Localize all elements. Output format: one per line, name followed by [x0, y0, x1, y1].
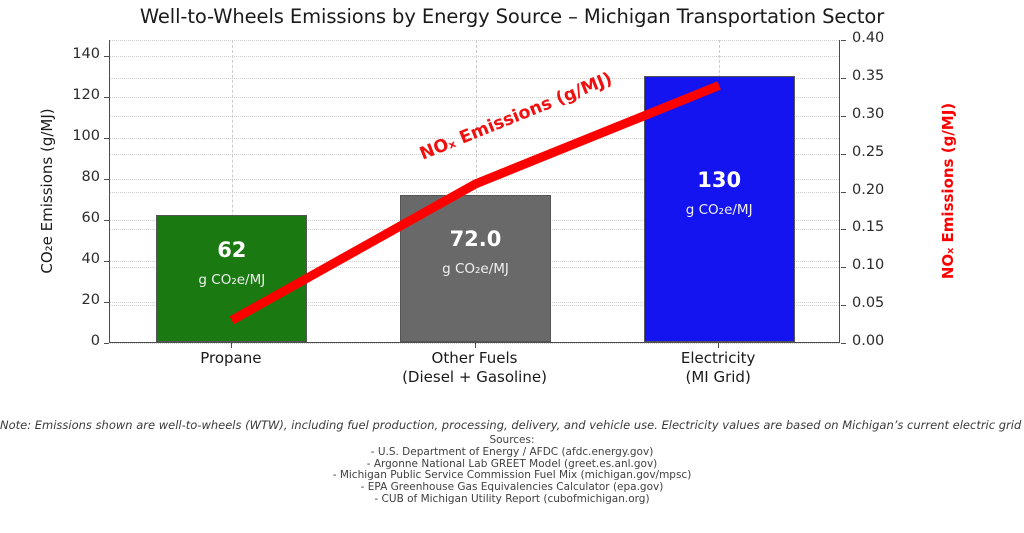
- chart-canvas: Well-to-Wheels Emissions by Energy Sourc…: [0, 0, 1024, 533]
- x-tick-label: Propane: [91, 349, 371, 368]
- y-tick-label-right: 0.35: [852, 68, 884, 84]
- y-tick-mark-right: [841, 305, 846, 306]
- y-tick-mark-left: [104, 343, 109, 344]
- y-tick-mark-right: [841, 154, 846, 155]
- y-tick-label-right: 0.30: [852, 106, 884, 122]
- footnote-sources: Sources:- U.S. Department of Energy / AF…: [0, 435, 1024, 506]
- x-tick-label-line: Other Fuels: [335, 349, 615, 368]
- y-axis-left-label: CO₂e Emissions (g/MJ): [38, 106, 56, 276]
- y-tick-mark-right: [841, 343, 846, 344]
- nox-line: [232, 85, 719, 320]
- y-tick-label-left: 0: [40, 333, 100, 349]
- y-tick-label-right: 0.00: [852, 333, 884, 349]
- x-tick-mark: [718, 343, 719, 348]
- y-tick-mark-right: [841, 267, 846, 268]
- y-tick-mark-left: [104, 179, 109, 180]
- y-tick-mark-left: [104, 220, 109, 221]
- y-axis-right-label: NOₓ Emissions (g/MJ): [939, 96, 957, 286]
- y-tick-label-right: 0.05: [852, 295, 884, 311]
- x-tick-mark: [231, 343, 232, 348]
- y-tick-mark-left: [104, 138, 109, 139]
- nox-line-svg: [110, 40, 841, 343]
- y-tick-label-left: 120: [40, 87, 100, 103]
- y-tick-mark-right: [841, 192, 846, 193]
- source-item: - U.S. Department of Energy / AFDC (afdc…: [0, 447, 1024, 459]
- y-tick-label-right: 0.15: [852, 219, 884, 235]
- x-tick-label-line: (Diesel + Gasoline): [335, 368, 615, 387]
- x-tick-label-line: Propane: [91, 349, 371, 368]
- x-tick-mark: [475, 343, 476, 348]
- source-item: - CUB of Michigan Utility Report (cubofm…: [0, 494, 1024, 506]
- footnote-note: Note: Emissions shown are well-to-wheels…: [0, 418, 1024, 432]
- nox-line-layer: [110, 40, 839, 342]
- y-tick-mark-right: [841, 40, 846, 41]
- y-tick-mark-left: [104, 302, 109, 303]
- x-tick-label-line: Electricity: [578, 349, 858, 368]
- x-tick-label: Electricity(MI Grid): [578, 349, 858, 387]
- y-tick-mark-left: [104, 261, 109, 262]
- y-tick-mark-right: [841, 116, 846, 117]
- chart-title: Well-to-Wheels Emissions by Energy Sourc…: [0, 5, 1024, 28]
- y-tick-label-left: 20: [40, 292, 100, 308]
- plot-area: 62g CO₂e/MJ72.0g CO₂e/MJ130g CO₂e/MJ: [109, 40, 840, 343]
- y-tick-mark-right: [841, 78, 846, 79]
- y-tick-label-right: 0.25: [852, 144, 884, 160]
- y-tick-label-left: 140: [40, 46, 100, 62]
- y-tick-mark-right: [841, 229, 846, 230]
- y-tick-label-right: 0.10: [852, 257, 884, 273]
- y-tick-label-right: 0.40: [852, 30, 884, 46]
- y-tick-mark-left: [104, 56, 109, 57]
- y-tick-label-right: 0.20: [852, 182, 884, 198]
- x-tick-label: Other Fuels(Diesel + Gasoline): [335, 349, 615, 387]
- y-tick-mark-left: [104, 97, 109, 98]
- x-tick-label-line: (MI Grid): [578, 368, 858, 387]
